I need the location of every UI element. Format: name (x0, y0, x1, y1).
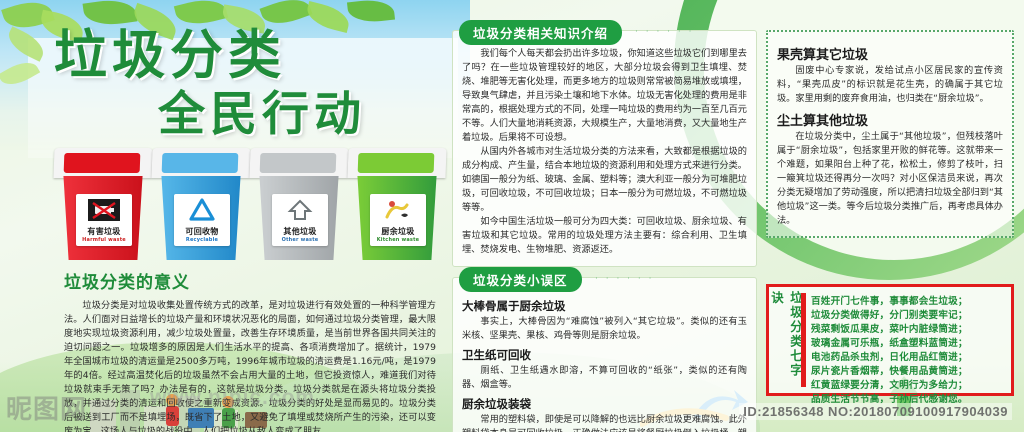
mnemonic-line: 玻璃金属可乐瓶，纸盒塑料蓝筒进； (811, 335, 1007, 349)
mnemonic-line: 垃圾分类做得好，分门别类要牢记； (811, 307, 1007, 321)
bin-label-cn: 可回收物 (185, 226, 218, 237)
bin-lid (53, 148, 152, 178)
right-item-body-2: 在垃圾分类中，尘土属于“其他垃圾”，但残枝落叶属于“厨余垃圾”，包括家里开败的鲜… (777, 130, 1003, 228)
misconception-body-3: 常用的塑料袋，即使是可以降解的也远比厨余垃圾更难腐蚀。此外塑料袋本身是可回收垃圾… (462, 413, 747, 432)
bin-label-cn: 有害垃圾 (87, 226, 120, 237)
mnemonic-divider (801, 293, 806, 387)
bin-harmful-waste: 有害垃圾 Harmful waste (60, 148, 146, 260)
middle-column: 垃圾分类相关知识介绍 · · · · · · 我们每个人每天都会扔出许多垃圾，你… (452, 30, 757, 432)
bin-lid-inner (358, 153, 435, 173)
bin-other-waste: 其他垃圾 Other waste (256, 148, 342, 260)
misconceptions-panel: 垃圾分类小误区 · · · · · · 大棒骨属于厨余垃圾 事实上，大棒骨因为“… (452, 277, 757, 432)
misconception-title-3: 厨余垃圾装袋 (462, 396, 747, 412)
heading-dots-decoration: · · · · · · (595, 274, 654, 284)
bin-label-card: 可回收物 Recyclable (174, 194, 230, 246)
battery-crossed-icon (76, 194, 132, 226)
right-column: 果壳算其它垃圾 固废中心专家说，发给试点小区居民家的宣传资料，“果壳瓜皮”的标识… (766, 30, 1014, 238)
bin-label-en: Kitchen waste (377, 237, 420, 243)
image-id-watermark: ID:21856348 NO:20180709100917904039 (739, 403, 1012, 420)
bin-lid (347, 148, 446, 178)
left-article-heading: 垃圾分类的意义 (64, 268, 436, 293)
bin-lid (151, 148, 250, 178)
title-line-primary: 垃圾分类 (54, 28, 366, 84)
mnemonic-title: 垃圾分类七字诀 (773, 291, 799, 389)
mnemonic-line: 百姓开门七件事，事事都会生垃圾； (811, 293, 1007, 307)
right-dotted-box: 果壳算其它垃圾 固废中心专家说，发给试点小区居民家的宣传资料，“果壳瓜皮”的标识… (766, 30, 1014, 238)
left-article-body: 垃圾分类是对垃圾收集处置传统方式的改革，是对垃圾进行有效处置的一种科学管理方法。… (64, 299, 436, 432)
knowledge-panel: 垃圾分类相关知识介绍 · · · · · · 我们每个人每天都会扔出许多垃圾，你… (452, 30, 757, 267)
misconception-title-1: 大棒骨属于厨余垃圾 (462, 298, 747, 314)
right-item-title-1: 果壳算其它垃圾 (777, 44, 1003, 63)
bin-kitchen-waste: 厨余垃圾 Kitchen waste (354, 148, 440, 260)
bin-label-card: 有害垃圾 Harmful waste (76, 194, 132, 246)
knowledge-paragraph-3: 如今中国生活垃圾一般可分为四大类：可回收垃圾、厨余垃圾、有害垃圾和其它垃圾。常用… (462, 215, 747, 257)
bin-lid (249, 148, 348, 178)
bin-label-en: Recyclable (186, 237, 218, 243)
knowledge-panel-heading: 垃圾分类相关知识介绍 (459, 20, 622, 45)
site-url-watermark: www.nipic.com (150, 386, 315, 410)
food-scraps-icon (370, 194, 426, 226)
mnemonic-line: 红黄蓝绿要分清，文明行为多给力； (811, 377, 1007, 391)
poster-title: 垃圾分类 全民行动 (54, 28, 366, 139)
mnemonic-line-list: 百姓开门七件事，事事都会生垃圾； 垃圾分类做得好，分门别类要牢记； 残菜剩饭瓜果… (811, 291, 1007, 389)
mnemonic-box: 垃圾分类七字诀 百姓开门七件事，事事都会生垃圾； 垃圾分类做得好，分门别类要牢记… (766, 284, 1014, 396)
bin-lid-inner (260, 153, 337, 173)
recycle-triangle-icon (174, 194, 230, 226)
bin-lid-inner (64, 153, 141, 173)
bin-label-en: Harmful waste (82, 237, 126, 243)
mnemonic-line: 尿片瓷片香烟蒂，快餐用品黄筒进； (811, 363, 1007, 377)
mnemonic-line: 电池药品杀虫剂，日化用品红筒进； (811, 349, 1007, 363)
bin-recyclable: 可回收物 Recyclable (158, 148, 244, 260)
mnemonic-line: 残菜剩饭瓜果皮，菜叶内脏绿筒进； (811, 321, 1007, 335)
poster-canvas: 垃圾分类 全民行动 有害垃圾 Harmful waste (0, 0, 1024, 432)
site-logo-watermark: 昵图网 (6, 389, 87, 426)
heading-dots-decoration: · · · · · · (635, 27, 694, 37)
bin-label-en: Other waste (282, 237, 319, 243)
bin-label-cn: 厨余垃圾 (381, 226, 414, 237)
misconception-body-1: 事实上，大棒骨因为“难腐蚀”被列入“其它垃圾”。类似的还有玉米核、坚果壳、果核、… (462, 315, 747, 343)
right-item-body-1: 固废中心专家说，发给试点小区居民家的宣传资料，“果壳瓜皮”的标识就是花生壳，的确… (777, 64, 1003, 106)
bin-label-card: 其他垃圾 Other waste (272, 194, 328, 246)
other-waste-arrow-icon (272, 194, 328, 226)
misconception-title-2: 卫生纸可回收 (462, 347, 747, 363)
knowledge-paragraph-1: 我们每个人每天都会扔出许多垃圾，你知道这些垃圾它们到哪里去了吗？在一些垃圾管理较… (462, 47, 747, 145)
misconceptions-panel-heading: 垃圾分类小误区 (459, 267, 582, 292)
bin-row: 有害垃圾 Harmful waste 可回收物 Recyclable (60, 148, 440, 263)
bin-label-card: 厨余垃圾 Kitchen waste (370, 194, 426, 246)
misconception-body-2: 厕纸、卫生纸遇水即溶，不算可回收的“纸张”，类似的还有陶器、烟盒等。 (462, 364, 747, 392)
knowledge-paragraph-2: 从国内外各城市对生活垃圾分类的方法来看，大致都是根据垃圾的成分构成、产生量，结合… (462, 145, 747, 215)
bin-lid-inner (162, 153, 239, 173)
bin-label-cn: 其他垃圾 (283, 226, 316, 237)
title-line-secondary: 全民行动 (158, 90, 366, 139)
right-item-title-2: 尘土算其他垃圾 (777, 110, 1003, 129)
